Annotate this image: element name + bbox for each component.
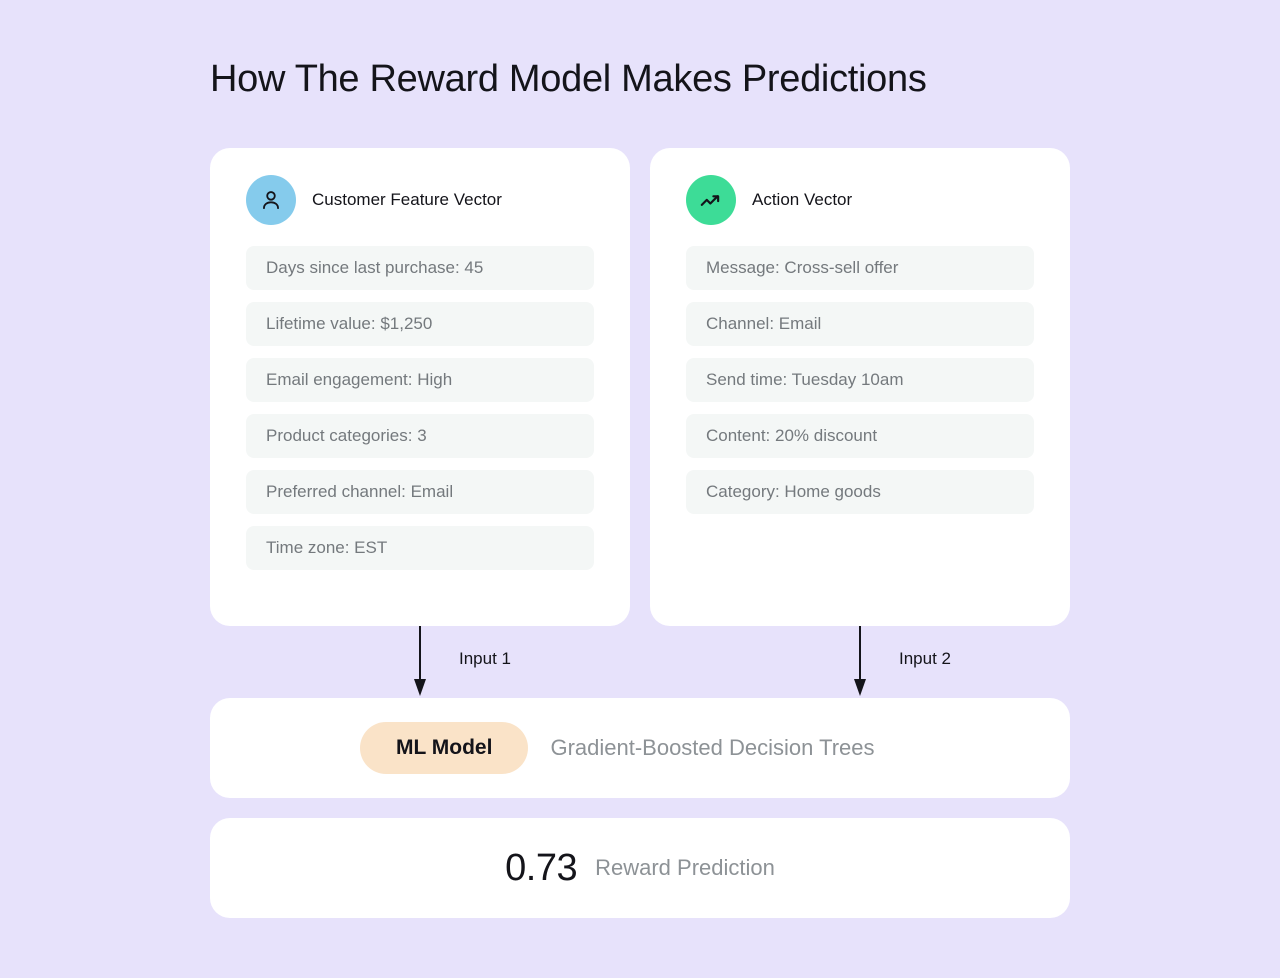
reward-prediction-card: 0.73 Reward Prediction — [210, 818, 1070, 918]
page-title: How The Reward Model Makes Predictions — [210, 58, 927, 101]
reward-prediction-label: Reward Prediction — [595, 855, 775, 881]
diagram-canvas: How The Reward Model Makes Predictions C… — [0, 0, 1280, 978]
ml-model-card: ML Model Gradient-Boosted Decision Trees — [210, 698, 1070, 798]
card-header: Action Vector — [686, 174, 1034, 226]
user-icon — [246, 175, 296, 225]
ml-model-description: Gradient-Boosted Decision Trees — [550, 735, 874, 761]
list-item: Lifetime value: $1,250 — [246, 302, 594, 346]
input-vector-row: Customer Feature Vector Days since last … — [210, 148, 1070, 626]
input-1-label: Input 1 — [459, 649, 511, 669]
card-title: Action Vector — [752, 190, 852, 210]
list-item: Send time: Tuesday 10am — [686, 358, 1034, 402]
action-vector-card: Action Vector Message: Cross-sell offer … — [650, 148, 1070, 626]
ml-model-badge: ML Model — [360, 722, 528, 774]
input-2-label: Input 2 — [899, 649, 951, 669]
list-item: Message: Cross-sell offer — [686, 246, 1034, 290]
list-item: Channel: Email — [686, 302, 1034, 346]
list-item: Product categories: 3 — [246, 414, 594, 458]
list-item: Days since last purchase: 45 — [246, 246, 594, 290]
card-title: Customer Feature Vector — [312, 190, 502, 210]
customer-feature-vector-card: Customer Feature Vector Days since last … — [210, 148, 630, 626]
list-item: Email engagement: High — [246, 358, 594, 402]
trending-up-icon — [686, 175, 736, 225]
list-item: Preferred channel: Email — [246, 470, 594, 514]
list-item: Category: Home goods — [686, 470, 1034, 514]
reward-prediction-value: 0.73 — [505, 847, 577, 890]
arrow-zone — [0, 626, 1280, 698]
card-header: Customer Feature Vector — [246, 174, 594, 226]
list-item: Content: 20% discount — [686, 414, 1034, 458]
feature-chip-list: Days since last purchase: 45 Lifetime va… — [246, 246, 594, 570]
list-item: Time zone: EST — [246, 526, 594, 570]
action-chip-list: Message: Cross-sell offer Channel: Email… — [686, 246, 1034, 514]
